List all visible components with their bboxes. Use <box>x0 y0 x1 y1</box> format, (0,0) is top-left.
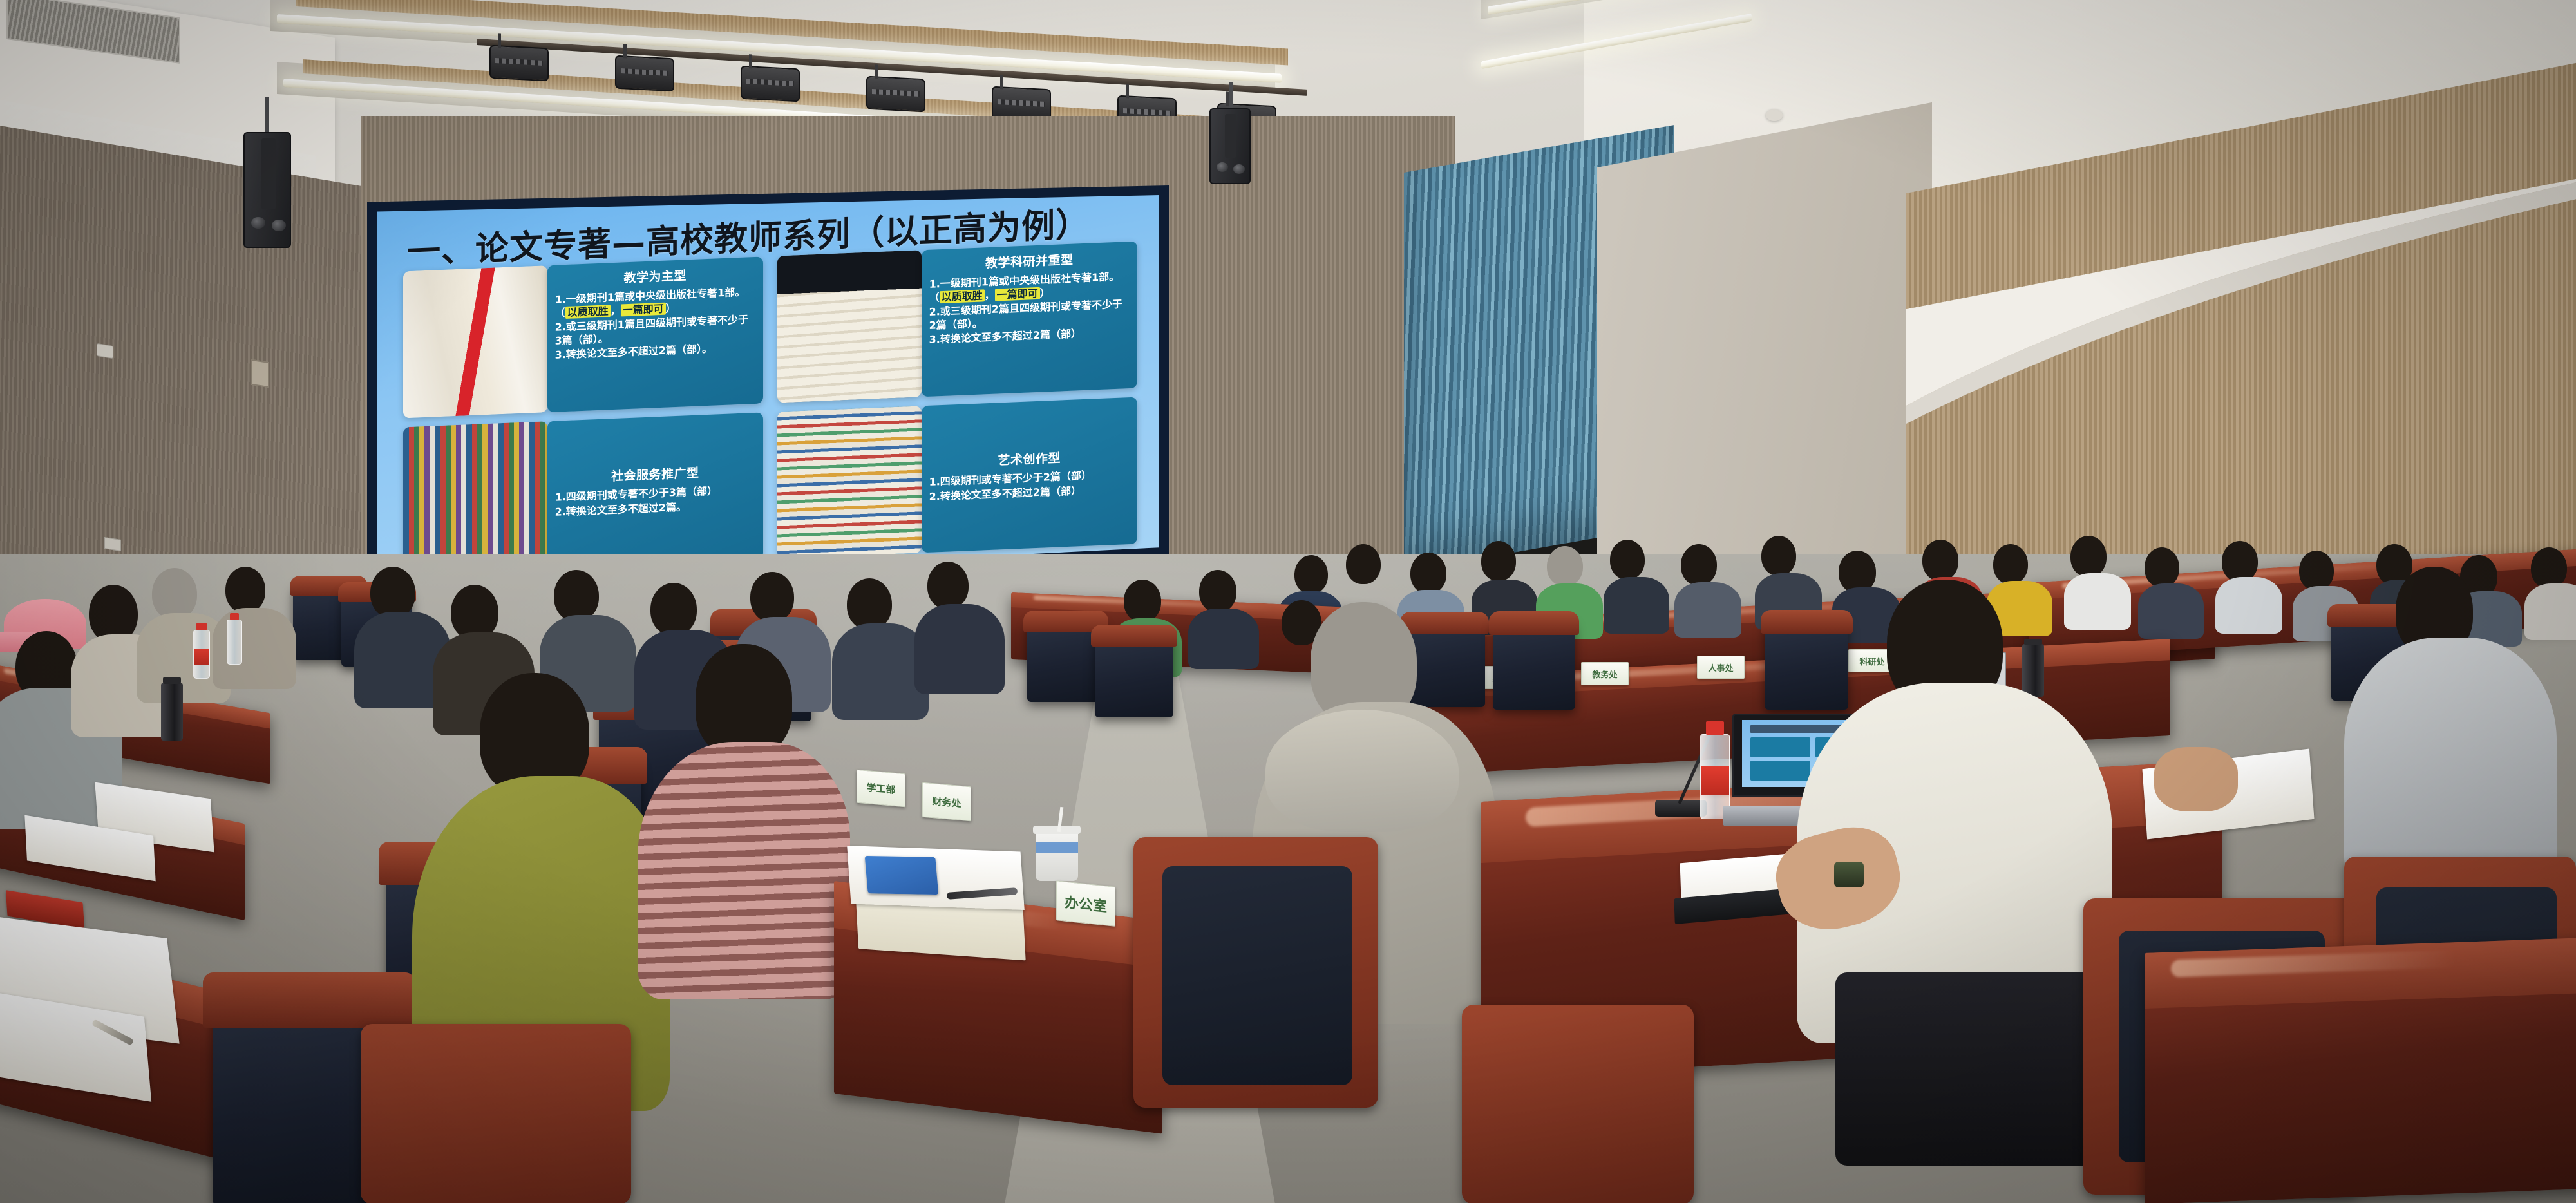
person-body-br-q <box>2524 583 2576 640</box>
water-bottle-left-1 <box>193 630 210 679</box>
smoke-detector-icon <box>1766 109 1783 121</box>
person-head-br6 <box>1610 540 1645 580</box>
person-body-br-k <box>2064 573 2131 630</box>
person-head-br8 <box>1761 536 1796 576</box>
person-head-m1 <box>1124 580 1161 622</box>
person-head-lc7 <box>927 562 969 609</box>
stacked-books-image <box>777 250 922 403</box>
person-head-br7 <box>1681 544 1717 585</box>
slide-card-body-2: 教学科研并重型 1.一级期刊1篇或中央级出版社专著1部。（以质取胜，一篇即可） … <box>922 242 1137 397</box>
armchair-left-front[interactable] <box>361 1024 631 1203</box>
conference-room-scene: 一、论文专著—高校教师系列（以正高为例） 教学为主型 1.一级期刊1篇或中央级出… <box>0 0 2576 1203</box>
name-placard-office: 办公室 <box>1056 880 1115 927</box>
armchair-center-1-cushion <box>1162 866 1352 1085</box>
speaker-right <box>1209 108 1251 184</box>
person-body-br-m <box>2215 577 2282 634</box>
slide-card-body-3: 社会服务推广型 1.四级期刊或专著不少于3篇（部） 2.转换论文至多不超过2篇。 <box>547 412 763 568</box>
person-hands-right-edge <box>2154 747 2238 811</box>
person-trousers-white-shirt <box>1835 972 2106 1166</box>
person-head-fg-striped <box>696 644 792 757</box>
person-head-br15 <box>2299 551 2334 591</box>
person-head-br3 <box>1410 553 1446 594</box>
spotlight-3 <box>741 66 800 102</box>
spotlight-1 <box>489 45 549 82</box>
slide-card-heading-4: 艺术创作型 <box>929 446 1130 471</box>
highlight-text: 以质取胜 <box>940 289 985 303</box>
chair-mid-2[interactable] <box>1095 632 1173 717</box>
person-body-l4 <box>213 608 296 689</box>
slide-card-teaching-focused: 教学为主型 1.一级期刊1篇或中央级出版社专著1部。（以质取胜，一篇即可） 2.… <box>403 256 763 418</box>
person-head-br10 <box>1922 540 1958 581</box>
name-placard-2: 教务处 <box>1581 662 1629 685</box>
slide-card-heading-1: 教学为主型 <box>555 263 755 289</box>
person-head-lc6 <box>847 578 892 630</box>
person-head-br18 <box>2531 547 2567 589</box>
slide-cards-grid: 教学为主型 1.一级期刊1篇或中央级出版社专著1部。（以质取胜，一篇即可） 2.… <box>403 242 1137 574</box>
person-body-fg-striped <box>638 742 850 999</box>
line-text-2: ， <box>985 289 995 302</box>
hoodie-hood <box>1265 710 1459 832</box>
line-text-3: ） <box>666 302 676 315</box>
person-head-br12 <box>2070 536 2107 577</box>
speaker-cone-d <box>1233 164 1245 174</box>
person-head-lc1 <box>370 567 415 618</box>
person-head-br14 <box>2222 541 2258 582</box>
spotlight-4 <box>866 76 925 113</box>
slide-card-art-creation: 艺术创作型 1.四级期刊或专著不少于2篇（部） 2.转换论文至多不超过2篇（部） <box>777 397 1137 559</box>
name-placard-5: 学工部 <box>857 770 905 808</box>
bookshelf-image <box>403 421 547 574</box>
speaker-cone-b <box>272 220 286 231</box>
thermos-flask-left <box>161 683 183 741</box>
person-head-l4 <box>225 567 265 613</box>
table-bottom-right <box>2145 938 2576 1203</box>
slide-card-body-4: 艺术创作型 1.四级期刊或专著不少于2篇（部） 2.转换论文至多不超过2篇（部） <box>922 397 1137 553</box>
chair-mid-4[interactable] <box>1493 620 1575 710</box>
person-body-m2 <box>1188 609 1259 669</box>
speaker-left <box>243 132 291 248</box>
name-placard-6: 财务处 <box>922 782 971 822</box>
projection-screen[interactable]: 一、论文专著—高校教师系列（以正高为例） 教学为主型 1.一级期刊1篇或中央级出… <box>377 195 1159 587</box>
wall-switch-plate[interactable] <box>97 343 113 359</box>
person-head-br13 <box>2145 547 2179 587</box>
highlight-text-2: 一篇即可 <box>621 303 666 317</box>
person-head-br1 <box>1294 555 1328 594</box>
person-body-br-l <box>2138 583 2204 639</box>
drink-cup-center <box>1036 831 1078 881</box>
speaker-cone-a <box>251 217 265 229</box>
speaker-cone-c <box>1217 162 1228 172</box>
person-head-br4 <box>1481 541 1516 581</box>
chair-mid-5[interactable] <box>1765 618 1848 710</box>
person-head-lc3 <box>554 570 599 621</box>
person-body-br-f <box>1674 582 1741 638</box>
person-body-br-e <box>1604 577 1669 634</box>
highlight-text: 以质取胜 <box>565 305 611 319</box>
water-bottle-left-2 <box>227 620 242 665</box>
smartphone-center[interactable] <box>865 856 939 895</box>
person-head-l3 <box>152 568 197 620</box>
person-head-lc4 <box>650 583 697 636</box>
wall-frame-small <box>251 359 269 388</box>
spotlight-2 <box>615 55 674 92</box>
slide-card-body-1: 教学为主型 1.一级期刊1篇或中央级出版社专著1部。（以质取胜，一篇即可） 2.… <box>547 256 763 412</box>
person-head-br2 <box>1346 544 1381 584</box>
slide-card-heading-3: 社会服务推广型 <box>555 461 755 487</box>
book-pile-image <box>777 406 922 558</box>
slide-card-heading-2: 教学科研并重型 <box>929 248 1130 274</box>
person-body-lc7 <box>914 604 1005 694</box>
line-text-3: ） <box>1040 287 1050 299</box>
armchair-center-2[interactable] <box>1462 1005 1694 1203</box>
line-text-2: ， <box>611 305 621 317</box>
slide-card-social-service: 社会服务推广型 1.四级期刊或专著不少于3篇（部） 2.转换论文至多不超过2篇。 <box>403 412 763 574</box>
name-placard-3: 人事处 <box>1697 656 1745 679</box>
person-head-lc5 <box>750 572 794 622</box>
slide-card-teaching-research: 教学科研并重型 1.一级期刊1篇或中央级出版社专著1部。（以质取胜，一篇即可） … <box>777 242 1137 403</box>
thermos-flask-1 <box>2022 644 2044 697</box>
wristwatch <box>1834 862 1864 887</box>
person-head-m2 <box>1199 570 1236 612</box>
highlight-text-2: 一篇即可 <box>995 287 1040 301</box>
open-book-image <box>403 265 547 418</box>
person-head-br11 <box>1993 544 2028 584</box>
person-body-right-edge <box>2344 638 2557 882</box>
person-head-br5 <box>1547 546 1583 586</box>
slide-content: 一、论文专著—高校教师系列（以正高为例） 教学为主型 1.一级期刊1篇或中央级出… <box>377 195 1159 587</box>
